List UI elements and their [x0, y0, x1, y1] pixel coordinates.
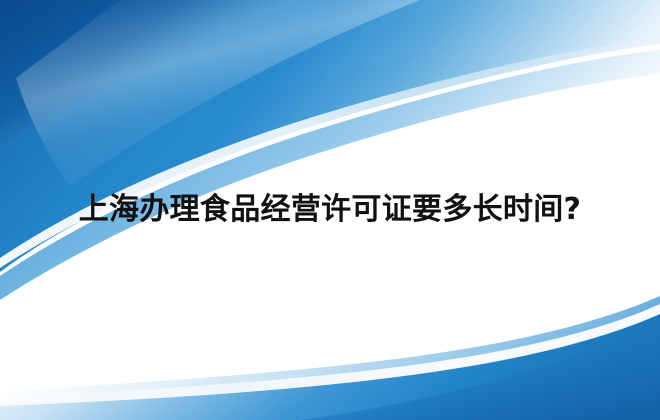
page-title: 上海办理食品经营许可证要多长时间? [52, 187, 608, 233]
headline-container: 上海办理食品经营许可证要多长时间? [0, 0, 660, 420]
banner-canvas: 上海办理食品经营许可证要多长时间? [0, 0, 660, 420]
